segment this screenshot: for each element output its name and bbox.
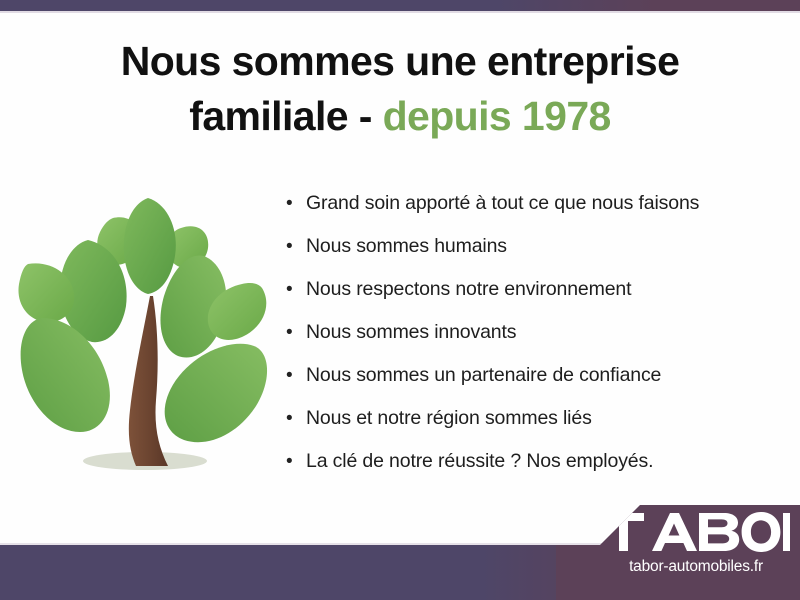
list-item-label: Nous respectons notre environnement [306,278,631,301]
list-item: • Nous sommes un partenaire de confiance [286,364,766,407]
list-item: • Nous sommes humains [286,235,766,278]
list-item-label: Grand soin apporté à tout ce que nous fa… [306,192,699,215]
bullet-marker-icon: • [286,409,306,428]
list-item: • La clé de notre réussite ? Nos employé… [286,450,766,493]
tree-illustration [18,178,274,494]
tree-leaf [124,198,176,294]
bullet-marker-icon: • [286,323,306,342]
list-item-label: Nous sommes innovants [306,321,516,344]
bullet-marker-icon: • [286,237,306,256]
headline-accent-text: depuis 1978 [383,93,611,139]
bullet-marker-icon: • [286,194,306,213]
page-title: Nous sommes une entreprise familiale - d… [40,34,760,144]
top-accent-hairline [0,11,800,13]
list-item-label: Nous et notre région sommes liés [306,407,592,430]
list-item-label: Nous sommes humains [306,235,507,258]
headline-line-2-plain: familiale - [189,93,382,139]
bullet-list: • Grand soin apporté à tout ce que nous … [286,192,766,493]
bullet-marker-icon: • [286,280,306,299]
list-item-label: Nous sommes un partenaire de confiance [306,364,661,387]
bullet-marker-icon: • [286,452,306,471]
top-accent-bar [0,0,800,11]
list-item: • Nous et notre région sommes liés [286,407,766,450]
list-item: • Nous respectons notre environnement [286,278,766,321]
tabor-wordmark-icon [600,510,790,554]
list-item: • Nous sommes innovants [286,321,766,364]
headline-line-1: Nous sommes une entreprise [40,34,760,89]
brand-logo-panel: tabor-automobiles.fr [556,505,800,600]
slide-canvas: Nous sommes une entreprise familiale - d… [0,0,800,600]
tree-leaf [165,344,267,442]
list-item-label: La clé de notre réussite ? Nos employés. [306,450,653,473]
headline-line-2: familiale - depuis 1978 [40,89,760,144]
brand-tagline: tabor-automobiles.fr [600,558,792,576]
bullet-marker-icon: • [286,366,306,385]
list-item: • Grand soin apporté à tout ce que nous … [286,192,766,235]
brand-logo-inner: tabor-automobiles.fr [556,505,800,600]
